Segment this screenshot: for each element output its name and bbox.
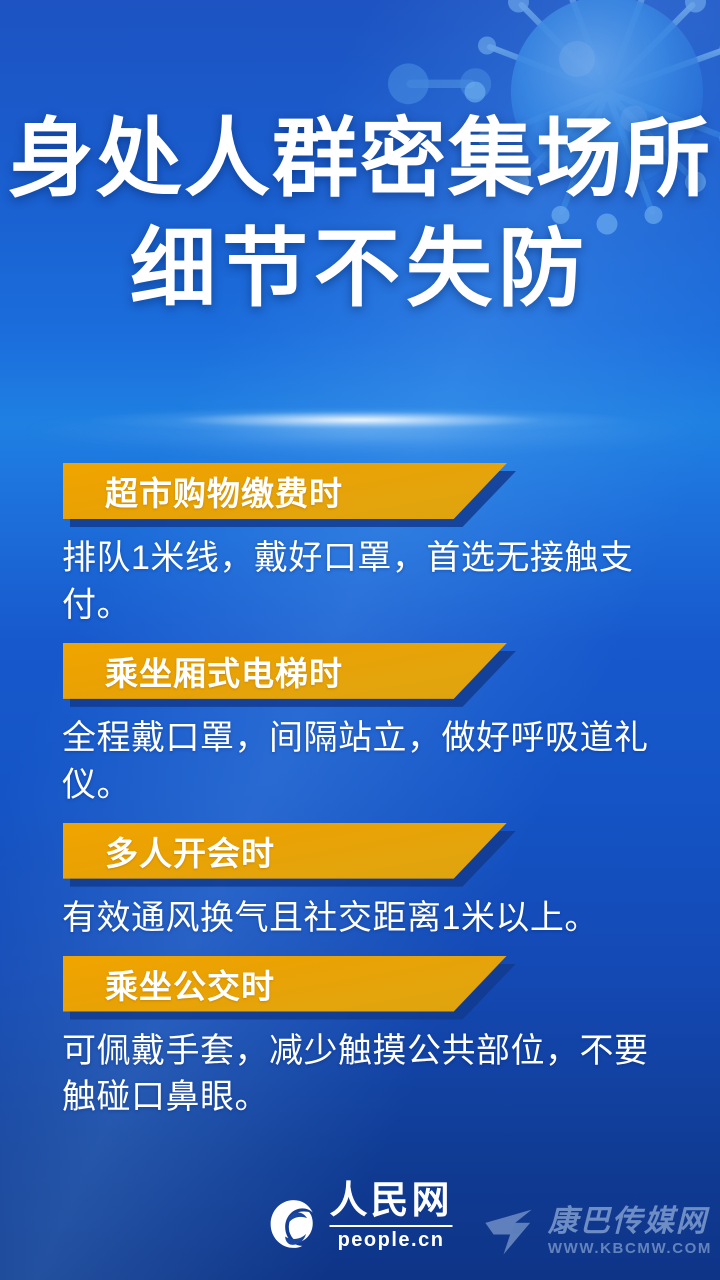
kbcmw-wordmark: 康巴传媒网 WWW.KBCMW.COM (548, 1206, 712, 1259)
glow-divider (80, 407, 640, 433)
people-cn-latin: people.cn (338, 1230, 445, 1250)
section-banner: 乘坐公交时 (63, 956, 507, 1012)
people-cn-rule (329, 1225, 452, 1227)
section-elevator: 乘坐厢式电梯时 全程戴口罩，间隔站立，做好呼吸道礼仪。 (0, 643, 720, 809)
page-title: 身处人群密集场所 细节不失防 (0, 104, 720, 324)
section-meeting: 多人开会时 有效通风换气且社交距离1米以上。 (0, 823, 720, 942)
section-body-text: 全程戴口罩，间隔站立，做好呼吸道礼仪。 (0, 715, 720, 809)
section-banner-label: 多人开会时 (63, 827, 275, 875)
title-line-1: 身处人群密集场所 (0, 104, 720, 214)
section-banner: 多人开会时 (63, 823, 507, 879)
section-bus: 乘坐公交时 可佩戴手套，减少触摸公共部位，不要触碰口鼻眼。 (0, 956, 720, 1122)
kbcmw-url: WWW.KBCMW.COM (548, 1240, 712, 1258)
banner-row: 乘坐公交时 (0, 956, 720, 1018)
people-globe-swoosh-icon (267, 1198, 319, 1250)
section-banner-label: 乘坐公交时 (63, 960, 275, 1008)
people-cn-han: 人民网 (329, 1182, 452, 1220)
kbcmw-arrow-mark-icon (482, 1206, 540, 1258)
section-supermarket: 超市购物缴费时 排队1米线，戴好口罩，首选无接触支付。 (0, 463, 720, 629)
people-cn-logo: 人民网 people.cn (267, 1182, 452, 1250)
sections-list: 超市购物缴费时 排队1米线，戴好口罩，首选无接触支付。 乘坐厢式电梯时 全程戴口… (0, 463, 720, 1135)
footer: 人民网 people.cn 康巴传媒网 WWW.KBCMW.COM (0, 1160, 720, 1280)
section-banner: 乘坐厢式电梯时 (63, 643, 507, 699)
banner-row: 超市购物缴费时 (0, 463, 720, 525)
section-banner-label: 乘坐厢式电梯时 (63, 647, 343, 695)
section-body-text: 有效通风换气且社交距离1米以上。 (0, 895, 720, 942)
banner-row: 多人开会时 (0, 823, 720, 885)
kbcmw-watermark: 康巴传媒网 WWW.KBCMW.COM (482, 1206, 712, 1259)
banner-row: 乘坐厢式电梯时 (0, 643, 720, 705)
section-banner: 超市购物缴费时 (63, 463, 507, 519)
people-cn-wordmark: 人民网 people.cn (329, 1182, 452, 1250)
section-banner-label: 超市购物缴费时 (63, 467, 343, 515)
section-body-text: 可佩戴手套，减少触摸公共部位，不要触碰口鼻眼。 (0, 1028, 720, 1122)
title-line-2: 细节不失防 (0, 214, 720, 324)
section-body-text: 排队1米线，戴好口罩，首选无接触支付。 (0, 535, 720, 629)
kbcmw-han: 康巴传媒网 (548, 1206, 708, 1238)
poster-root: 身处人群密集场所 细节不失防 超市购物缴费时 排队1米线，戴好口罩，首选无接触支… (0, 0, 720, 1280)
